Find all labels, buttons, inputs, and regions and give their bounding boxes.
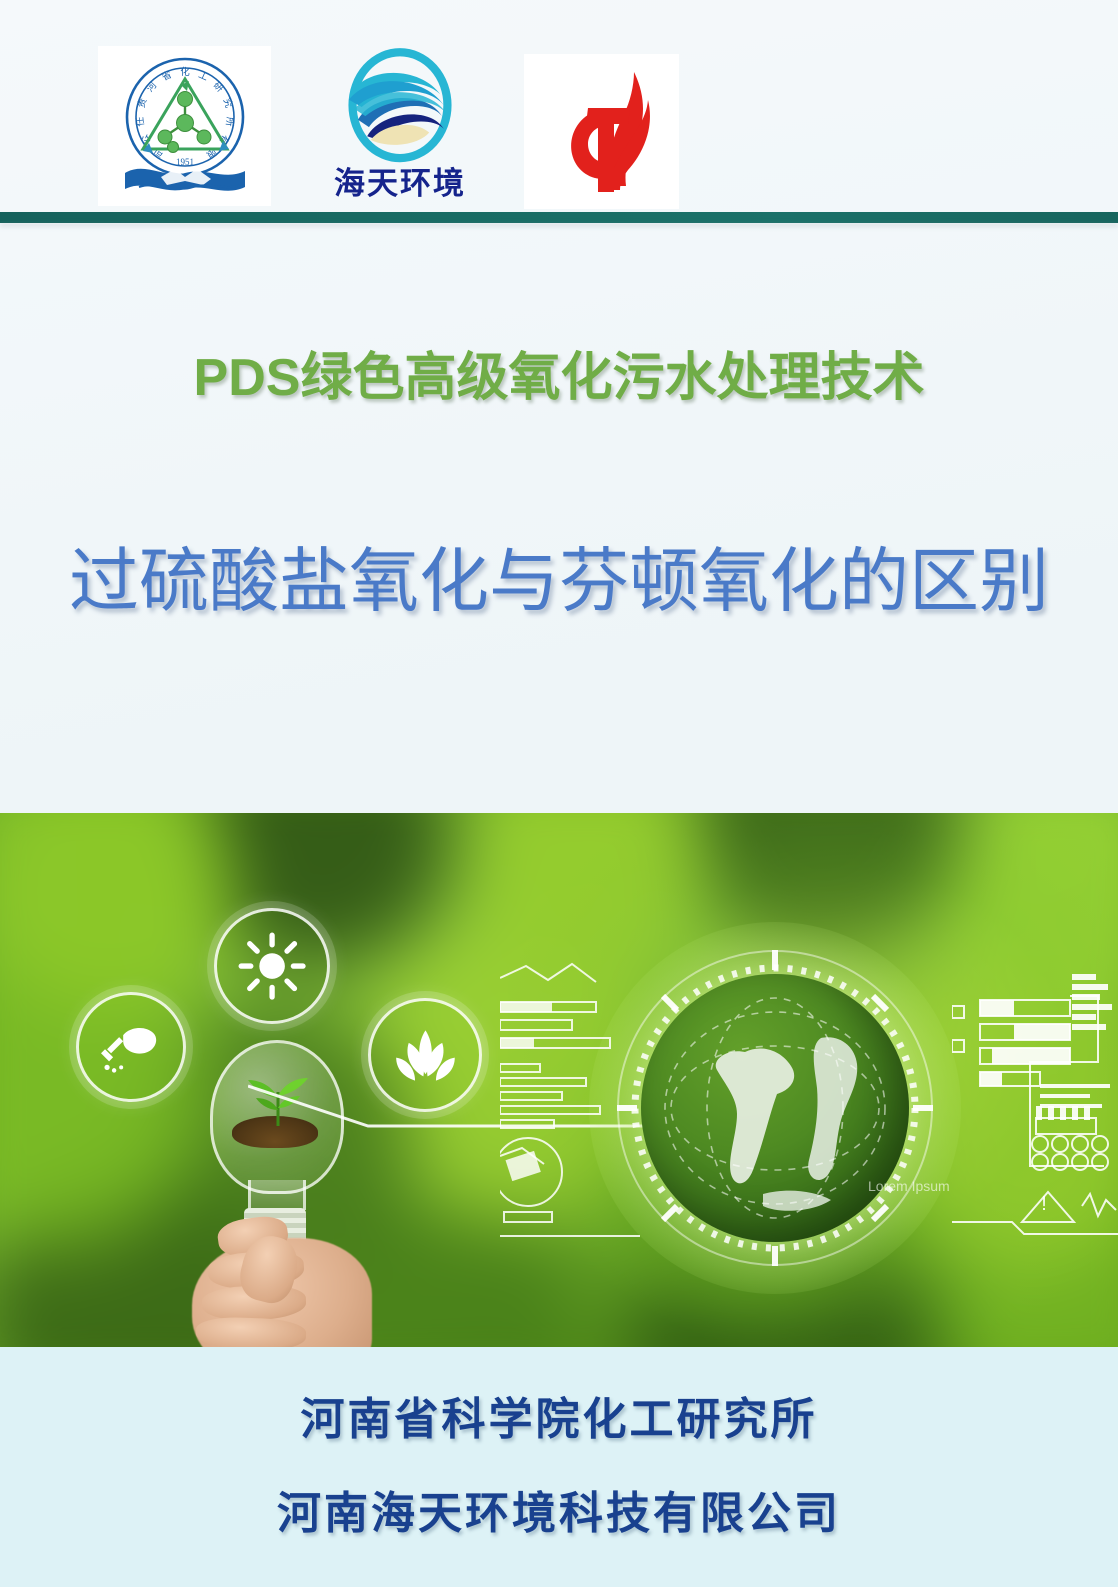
- institute-emblem-icon: 化 工 研 究 所 有 限 省 河 司 公 任 责: [105, 51, 265, 201]
- page-title: 过硫酸盐氧化与芬顿氧化的区别: [0, 525, 1118, 626]
- haitian-wave-icon: [327, 48, 473, 166]
- watering-can-glyph: [99, 1015, 163, 1079]
- title-area: PDS绿色高级氧化污水处理技术 过硫酸盐氧化与芬顿氧化的区别: [0, 240, 1118, 810]
- emblem-year: 1951: [176, 157, 194, 167]
- henan-chemical-institute-logo: 化 工 研 究 所 有 限 省 河 司 公 任 责: [98, 46, 271, 206]
- haitian-logo-caption: 海天环境: [334, 168, 466, 199]
- sun-icon: [214, 908, 330, 1024]
- haitian-environment-logo: 海天环境: [312, 48, 488, 211]
- flame-icon: [542, 66, 662, 198]
- svg-text:化: 化: [180, 66, 190, 78]
- footer-organization-2: 河南海天环境科技有限公司: [0, 1477, 1118, 1541]
- svg-text:河: 河: [143, 79, 159, 94]
- svg-text:任: 任: [133, 116, 146, 127]
- watering-can-icon: [76, 992, 186, 1102]
- header-divider-shadow: [0, 223, 1118, 227]
- svg-text:所: 所: [223, 116, 235, 127]
- footer: 河南省科学院化工研究所 河南海天环境科技有限公司: [0, 1347, 1118, 1587]
- globe-tick-ring: [611, 944, 939, 1272]
- svg-text:研: 研: [210, 80, 225, 95]
- sun-glyph: [238, 932, 306, 1000]
- globe-hud: [615, 948, 935, 1268]
- svg-text:工: 工: [196, 70, 209, 83]
- bulb-neck: [248, 1180, 306, 1210]
- footer-organization-1: 河南省科学院化工研究所: [0, 1383, 1118, 1447]
- subtitle-green: PDS绿色高级氧化污水处理技术: [0, 335, 1118, 410]
- red-flame-logo: [524, 54, 679, 209]
- header-divider: [0, 212, 1118, 223]
- presentation-title-slide: 化 工 研 究 所 有 限 省 河 司 公 任 责: [0, 0, 1118, 1587]
- logo-strip: 化 工 研 究 所 有 限 省 河 司 公 任 责: [0, 0, 1118, 210]
